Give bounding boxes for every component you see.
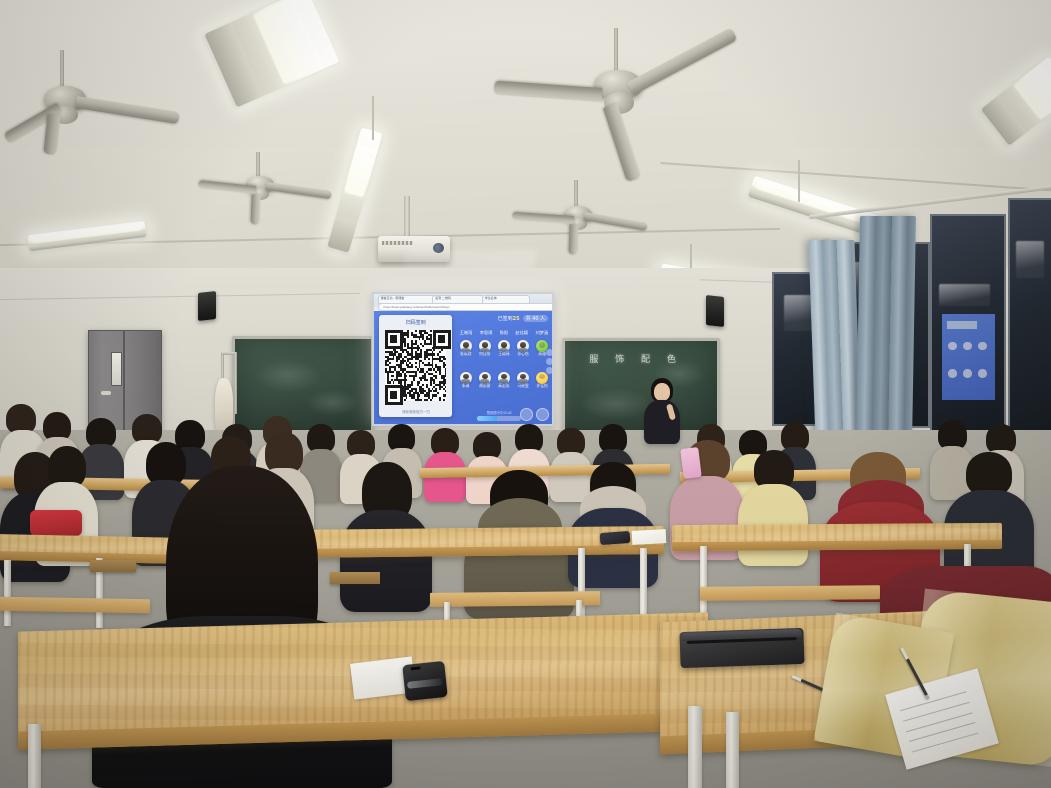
avatar-label: 王璐瑶 <box>498 353 510 357</box>
phone-on-mid-desk[interactable] <box>600 531 631 545</box>
projection-screen: 课堂互动 - 雨课堂 签到 二维码 学生名单 https://www.yuket… <box>372 292 554 426</box>
student-name: 刘梦涵 <box>536 330 549 336</box>
signin-progress: 签到进行中 01:42 <box>477 411 521 420</box>
attendance-count-label: 已签到 <box>498 316 513 322</box>
student-avatar-row-1: 张雨欣 何佳怡 王璐瑶 孙心怡 周雅 <box>460 340 548 357</box>
left-chalkboard <box>232 336 374 434</box>
stop-button[interactable] <box>536 408 549 421</box>
window-curtain-left[interactable] <box>808 240 861 442</box>
attendance-panel: 已签到25共 40 人 王晓雨 李思琪 陈阳 赵佳颖 刘梦涵 张雨欣 何佳怡 王… <box>456 311 552 424</box>
instructor-at-front <box>642 378 682 444</box>
wall-speaker-left <box>198 291 216 321</box>
attendance-count-value: 25 <box>513 316 520 322</box>
avatar-label: 胡雨萱 <box>479 385 491 389</box>
student-right-edge <box>944 452 1034 582</box>
dress-form-mannequin <box>212 352 238 434</box>
avatar-label: 许佳怡 <box>536 385 548 389</box>
wall-speaker-right <box>706 295 724 327</box>
avatar-label: 张雨欣 <box>460 353 472 357</box>
slide-controls[interactable] <box>520 408 549 421</box>
student-name: 王晓雨 <box>460 330 473 336</box>
student-avatar[interactable]: 何佳怡 <box>479 340 491 357</box>
ceiling-fan-center <box>490 28 740 178</box>
tablet-folder-case[interactable] <box>679 628 804 668</box>
qr-card-title: 扫码签到 <box>379 319 452 326</box>
avatar-label: 高若彤 <box>498 385 510 389</box>
phone-held-up[interactable] <box>680 447 702 479</box>
smartphone-on-desk[interactable] <box>402 661 448 701</box>
student-avatar[interactable]: 孙心怡 <box>517 340 529 357</box>
avatar-label: 何佳怡 <box>479 353 491 357</box>
desk-mid-right <box>672 523 1002 551</box>
paper-on-mid-desk <box>632 529 667 545</box>
student-avatar[interactable]: 张雨欣 <box>460 340 472 357</box>
ceiling-fan-left <box>0 50 180 170</box>
desk-leg <box>700 546 707 616</box>
student-name: 陈阳 <box>500 330 508 336</box>
right-chalkboard: 服 饰 配 色 <box>562 338 720 438</box>
progress-caption: 签到进行中 01:42 <box>477 411 521 415</box>
window-reflection-slide <box>942 314 995 400</box>
slide-content: 扫码签到 请使用微信扫一扫 已签到25共 40 人 王晓雨 李思琪 陈阳 赵佳颖… <box>374 311 552 424</box>
student-avatar[interactable]: 马晓雯 <box>517 372 529 389</box>
qr-code-card: 扫码签到 请使用微信扫一扫 <box>379 315 452 417</box>
panel-side-indicators <box>546 349 553 376</box>
student-name-row-1: 王晓雨 李思琪 陈阳 赵佳颖 刘梦涵 <box>460 330 548 336</box>
red-handbag <box>30 510 82 536</box>
desk-leg <box>640 548 647 620</box>
attendance-total-pill: 共 40 人 <box>523 315 549 322</box>
window-curtain-right[interactable] <box>856 216 916 442</box>
qr-code[interactable] <box>385 330 446 401</box>
student-avatar[interactable]: 高若彤 <box>498 372 510 389</box>
student-avatar[interactable]: 朱琳 <box>460 372 472 389</box>
light-stem <box>372 96 374 140</box>
student-name: 李思琪 <box>480 330 493 336</box>
window-pane-3 <box>930 214 1006 432</box>
desk-leg <box>4 560 11 626</box>
browser-tab-strip[interactable]: 课堂互动 - 雨课堂 签到 二维码 学生名单 <box>378 295 549 302</box>
pause-button[interactable] <box>520 408 533 421</box>
bench-center <box>430 591 600 607</box>
foreground-desk-leg <box>28 724 41 788</box>
projector-mount <box>404 196 410 238</box>
bench-right <box>700 585 880 601</box>
attendance-count: 已签到25共 40 人 <box>498 315 549 322</box>
student-name: 赵佳颖 <box>516 330 529 336</box>
student-avatar[interactable]: 胡雨萱 <box>479 372 491 389</box>
foreground-desk-leg <box>726 712 739 788</box>
student-avatar[interactable]: 王璐瑶 <box>498 340 510 357</box>
classroom-photo: 服 饰 配 色 课堂互动 - 雨课堂 签到 二维码 学生名单 https://w… <box>0 0 1051 788</box>
avatar-label: 孙心怡 <box>517 353 529 357</box>
avatar-label: 朱琳 <box>460 385 472 389</box>
avatar-label: 马晓雯 <box>517 385 529 389</box>
ceiling-fan-center-left <box>196 152 336 242</box>
chalkboard-text: 服 饰 配 色 <box>589 352 683 365</box>
window-pane-4 <box>1008 198 1051 432</box>
ceiling-fan-center-right <box>508 180 658 270</box>
qr-card-footer: 请使用微信扫一扫 <box>379 410 452 415</box>
browser-chrome: 课堂互动 - 雨课堂 签到 二维码 学生名单 https://www.yuket… <box>374 294 552 312</box>
student-avatar-row-2: 朱琳 胡雨萱 高若彤 马晓雯 许佳怡 <box>460 372 548 389</box>
foreground-desk-leg <box>688 706 702 788</box>
ceiling-mounted-projector <box>378 236 450 262</box>
